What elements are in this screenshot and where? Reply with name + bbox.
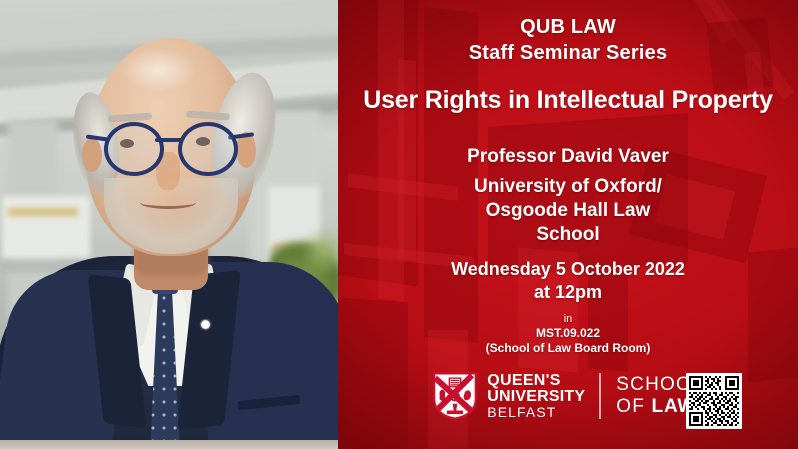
- series-line-2: Staff Seminar Series: [338, 42, 798, 64]
- portrait-subject: [0, 0, 338, 449]
- series-line-1: QUB LAW: [338, 16, 798, 38]
- venue-code: MST.09.022: [338, 327, 798, 340]
- qub-word-queens: QUEEN'S: [487, 373, 585, 389]
- ear: [82, 138, 102, 172]
- qr-code-icon: [689, 376, 739, 426]
- speaker-affiliation: University of Oxford/Osgoode Hall LawSch…: [338, 175, 798, 246]
- glasses-lens: [178, 122, 238, 176]
- qr-code[interactable]: [686, 373, 742, 429]
- qub-word-university: UNIVERSITY: [487, 389, 585, 405]
- photo-bottom-strip: [0, 440, 338, 449]
- info-panel: QUB LAW Staff Seminar Series User Rights…: [338, 0, 798, 449]
- glasses-lens: [104, 122, 164, 176]
- speaker-name: Professor David Vaver: [338, 146, 798, 167]
- head-highlight: [120, 48, 198, 92]
- logo-divider: [599, 373, 601, 419]
- poster-content: QUB LAW Staff Seminar Series User Rights…: [338, 0, 798, 449]
- venue-prefix: in: [338, 313, 798, 325]
- seminar-title: User Rights in Intellectual Property: [344, 86, 792, 114]
- event-datetime: Wednesday 5 October 2022at 12pm: [338, 258, 798, 305]
- qub-wordmark: QUEEN'S UNIVERSITY BELFAST: [487, 373, 585, 419]
- queens-university-crest-icon: [432, 372, 478, 420]
- venue-name: (School of Law Board Room): [338, 342, 798, 355]
- school-of-text: OF: [616, 396, 651, 417]
- lapel-pin: [201, 320, 210, 329]
- mouth: [140, 196, 196, 209]
- qub-word-belfast: BELFAST: [487, 405, 585, 419]
- seminar-poster: QUB LAW Staff Seminar Series User Rights…: [0, 0, 798, 449]
- speaker-photo: [0, 0, 338, 449]
- glasses-bridge: [155, 138, 183, 142]
